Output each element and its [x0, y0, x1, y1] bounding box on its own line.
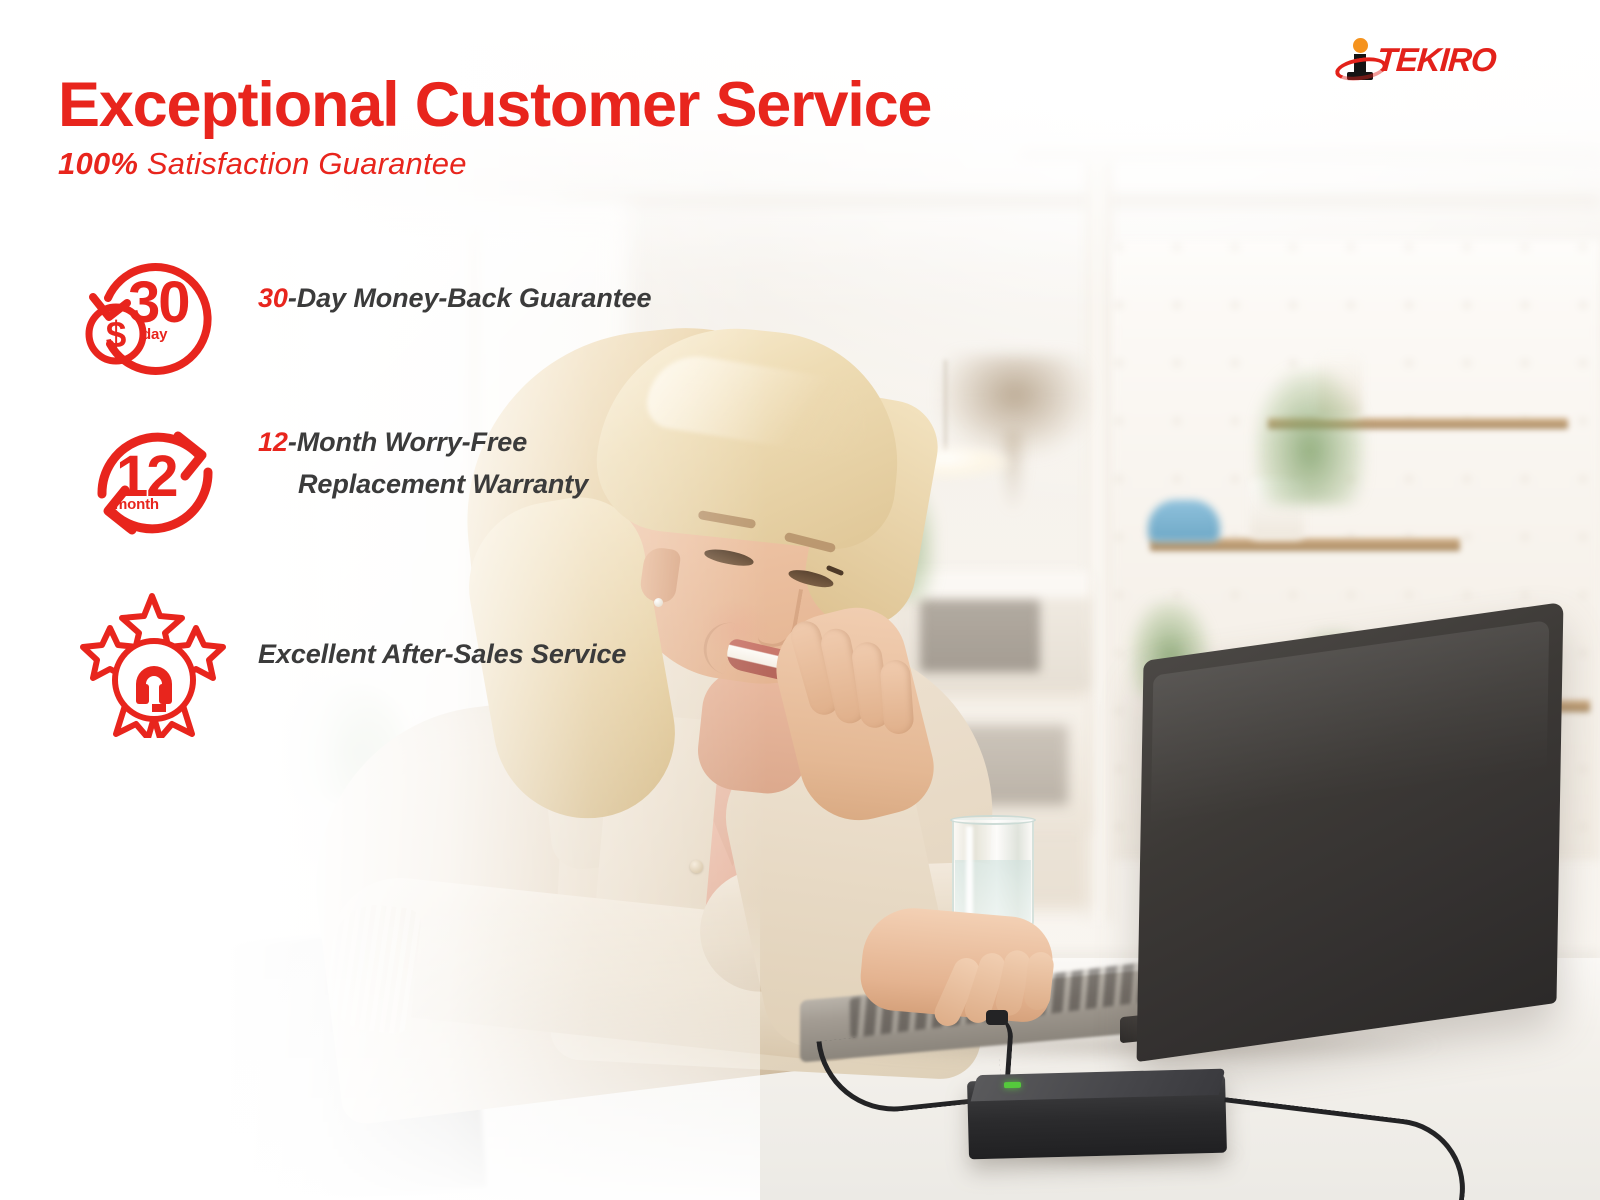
page-subtitle: 100% Satisfaction Guarantee: [58, 146, 467, 182]
feature-after-sales-label: Excellent After-Sales Service: [258, 588, 626, 676]
svg-text:$: $: [106, 314, 127, 355]
overlay-content: TEKIRO Exceptional Customer Service 100%…: [0, 0, 1600, 1200]
feature-line1: -Day Money-Back Guarantee: [288, 283, 652, 313]
feature-money-back-label: 30-Day Money-Back Guarantee: [258, 246, 651, 320]
feature-highlight-number: 30: [258, 283, 288, 313]
after-sales-badge-icon: [80, 588, 230, 738]
tekiro-logo[interactable]: TEKIRO: [1343, 38, 1496, 82]
logo-wordmark: TEKIRO: [1376, 41, 1497, 79]
after-sales-badge-svg: [80, 588, 230, 738]
subtitle-percent: 100%: [58, 146, 138, 181]
feature-line2: Replacement Warranty: [258, 464, 588, 506]
tekiro-i-mark-icon: [1343, 38, 1377, 82]
feature-after-sales: Excellent After-Sales Service: [80, 588, 626, 738]
feature-money-back: $ 30 day 30-Day Money-Back Guarantee: [80, 246, 651, 396]
icon-days-number: 30: [128, 274, 189, 332]
icon-months-unit: month: [114, 496, 159, 513]
feature-line1: Excellent After-Sales Service: [258, 639, 626, 669]
money-back-30-day-icon: $ 30 day: [80, 246, 230, 396]
feature-highlight-number: 12: [258, 427, 288, 457]
feature-line1: -Month Worry-Free: [288, 427, 527, 457]
feature-warranty-label: 12-Month Worry-Free Replacement Warranty: [258, 408, 588, 506]
warranty-12-month-icon: 12 month: [80, 408, 230, 558]
feature-warranty: 12 month 12-Month Worry-Free Replacement…: [80, 408, 588, 558]
page-title: Exceptional Customer Service: [58, 72, 931, 138]
icon-days-unit: day: [142, 326, 167, 343]
logo-dot: [1353, 38, 1368, 53]
marketing-banner: TEKIRO Exceptional Customer Service 100%…: [0, 0, 1600, 1200]
subtitle-rest: Satisfaction Guarantee: [138, 146, 467, 181]
